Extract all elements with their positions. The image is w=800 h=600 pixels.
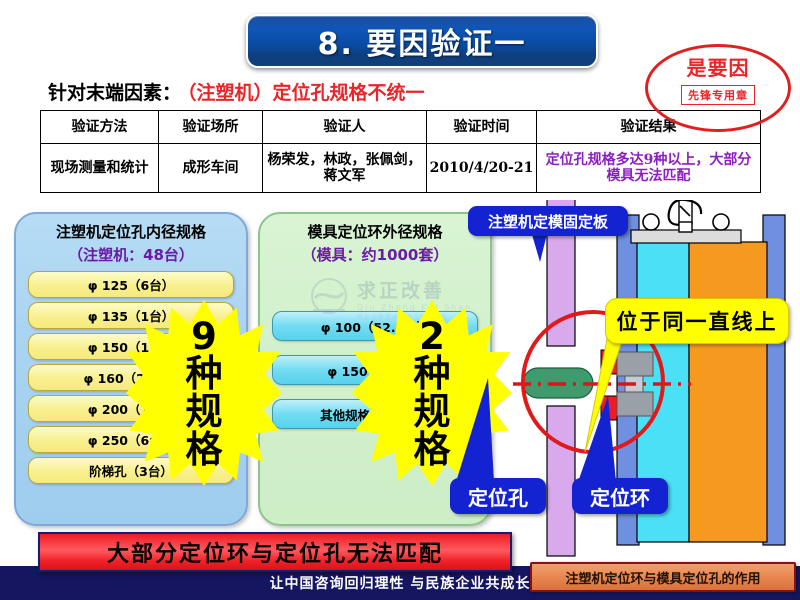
- footer-text: 让中国咨询回归理性 与民族企业共成长: [270, 573, 531, 593]
- callout-locating-ring-label: 定位环: [590, 482, 650, 511]
- panel-left-subtitle: （注塑机：48台）: [16, 244, 246, 265]
- starburst-left: 9种规格: [126, 300, 282, 486]
- stamp-main-text: 是要因: [687, 52, 750, 81]
- cell-result: 定位孔规格多达9种以上，大部分模具无法匹配: [537, 144, 761, 193]
- conclusion-text: 大部分定位环与定位孔无法匹配: [107, 536, 443, 568]
- table-header-person: 验证人: [263, 111, 427, 144]
- table-header-place: 验证场所: [159, 111, 263, 144]
- table-row: 现场测量和统计 成形车间 杨荣发，林政，张佩剑，蒋文军 2010/4/20-21…: [41, 144, 761, 193]
- ring-pointer: [578, 396, 616, 482]
- callout-locating-hole-label: 定位孔: [468, 482, 528, 511]
- callout-locating-hole: 定位孔: [450, 478, 546, 514]
- slide-canvas: 8. 要因验证一 是要因 先锋专用章 针对末端因素：（注塑机）定位孔规格不统一 …: [0, 0, 800, 600]
- starburst-left-label: 9种规格: [173, 318, 235, 469]
- conclusion-stamp: 是要因 先锋专用章: [645, 44, 791, 132]
- subtitle-value: （注塑机）定位孔规格不统一: [187, 82, 425, 104]
- callout-fixed-plate: 注塑机定模固定板: [468, 206, 628, 236]
- subtitle-key: 针对末端因素：: [48, 82, 181, 104]
- stamp-sub-text: 先锋专用章: [681, 85, 755, 105]
- footer-note-box: 注塑机定位环与模具定位孔的作用: [530, 562, 796, 592]
- callout-fixed-plate-label: 注塑机定模固定板: [488, 211, 608, 232]
- conclusion-banner: 大部分定位环与定位孔无法匹配: [38, 532, 512, 572]
- hole-pointer: [456, 378, 494, 482]
- verification-table: 验证方法 验证场所 验证人 验证时间 验证结果 现场测量和统计 成形车间 杨荣发…: [40, 110, 761, 193]
- table-header-row: 验证方法 验证场所 验证人 验证时间 验证结果: [41, 111, 761, 144]
- slide-title-banner: 8. 要因验证一: [246, 14, 598, 68]
- cell-method: 现场测量和统计: [41, 144, 159, 193]
- callout-in-line-label: 位于同一直线上: [617, 306, 778, 336]
- table-header-method: 验证方法: [41, 111, 159, 144]
- list-item: φ 125（6台）: [28, 271, 234, 298]
- cell-place: 成形车间: [159, 144, 263, 193]
- table-header-time: 验证时间: [427, 111, 537, 144]
- page-title: 8. 要因验证一: [318, 19, 527, 63]
- callout-in-line: 位于同一直线上: [605, 298, 789, 344]
- footer-note-text: 注塑机定位环与模具定位孔的作用: [565, 568, 760, 587]
- callout-locating-ring: 定位环: [572, 478, 668, 514]
- subtitle-line: 针对末端因素：（注塑机）定位孔规格不统一: [48, 78, 425, 105]
- panel-left-title: 注塑机定位孔内径规格: [16, 221, 246, 242]
- cell-person: 杨荣发，林政，张佩剑，蒋文军: [263, 144, 427, 193]
- cell-time: 2010/4/20-21: [427, 144, 537, 193]
